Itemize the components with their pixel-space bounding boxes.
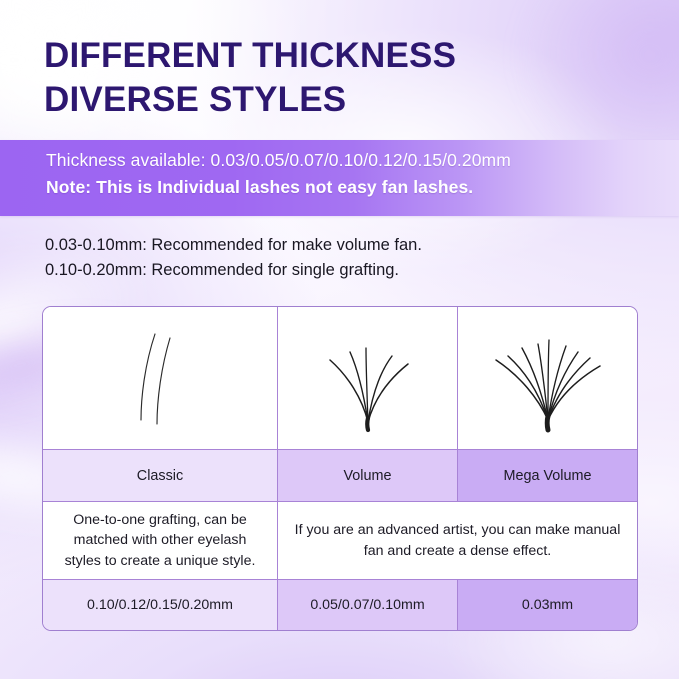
recommendation-item-single: 0.10-0.20mm: Recommended for single graf… [45, 258, 422, 283]
thickness-volume: 0.05/0.07/0.10mm [278, 580, 458, 630]
banner-note-text: Note: This is Individual lashes not easy… [46, 177, 473, 198]
description-classic-text: One-to-one grafting, can be matched with… [43, 510, 277, 570]
description-classic: One-to-one grafting, can be matched with… [43, 502, 278, 579]
table-row-descriptions: One-to-one grafting, can be matched with… [43, 502, 637, 580]
thickness-available-text: Thickness available: 0.03/0.05/0.07/0.10… [46, 150, 511, 171]
recommendation-list: 0.03-0.10mm: Recommended for make volume… [45, 233, 422, 283]
volume-fan-icon [314, 318, 422, 438]
classic-lash-pair-icon [115, 318, 205, 438]
thickness-classic: 0.10/0.12/0.15/0.20mm [43, 580, 278, 630]
label-mega-volume: Mega Volume [458, 450, 637, 501]
page-title-line-1: DIFFERENT THICKNESS [44, 36, 456, 75]
table-row-illustrations [43, 307, 637, 450]
lash-style-comparison-table: Classic Volume Mega Volume One-to-one gr… [42, 306, 638, 631]
thickness-mega-volume: 0.03mm [458, 580, 637, 630]
thickness-banner: Thickness available: 0.03/0.05/0.07/0.10… [0, 140, 679, 216]
mega-volume-fan-icon [484, 318, 612, 438]
cell-illustration-volume [278, 307, 458, 449]
page-title-line-2: DIVERSE STYLES [44, 78, 644, 122]
cell-illustration-classic [43, 307, 278, 449]
label-volume: Volume [278, 450, 458, 501]
description-volume-mega: If you are an advanced artist, you can m… [278, 502, 637, 579]
recommendation-item-volume: 0.03-0.10mm: Recommended for make volume… [45, 233, 422, 258]
page-title: DIFFERENT THICKNESS DIVERSE STYLES [44, 34, 644, 123]
description-volume-mega-text: If you are an advanced artist, you can m… [278, 520, 637, 560]
cell-illustration-mega-volume [458, 307, 637, 449]
label-classic: Classic [43, 450, 278, 501]
table-row-style-labels: Classic Volume Mega Volume [43, 450, 637, 502]
table-row-thicknesses: 0.10/0.12/0.15/0.20mm 0.05/0.07/0.10mm 0… [43, 580, 637, 630]
